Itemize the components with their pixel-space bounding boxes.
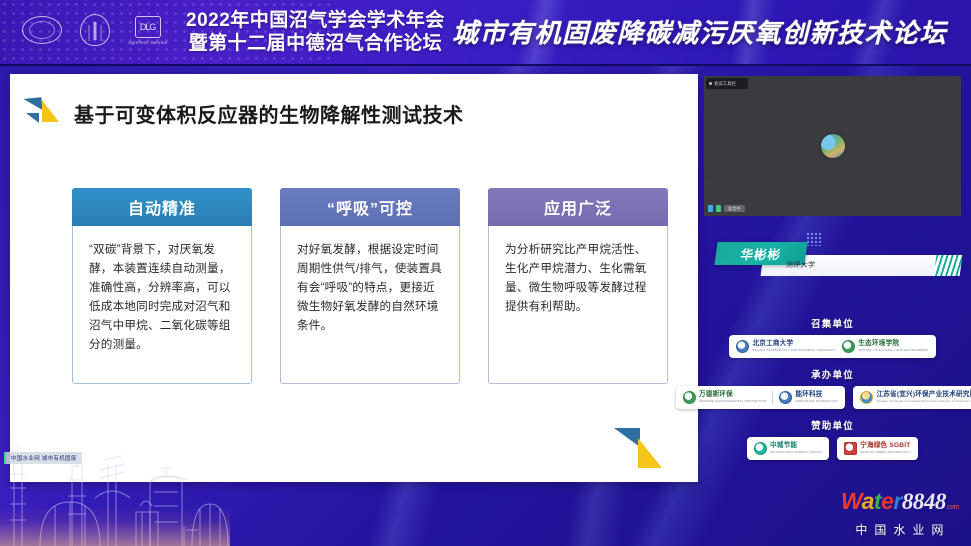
site-watermark: Water8848.com 中国水业网 (841, 489, 959, 538)
sponsor-text: 宁海绿色 SGBIT NINGHAI GREEN TECHNOLOGY (860, 443, 911, 454)
dlg-initials: DLG (135, 16, 161, 38)
video-status-label: 发言中 (724, 205, 745, 212)
sponsor-seal-icon (754, 442, 767, 455)
sponsor-name-cn: 中城节能 (770, 443, 822, 450)
menu-dot-icon (709, 82, 712, 85)
sponsor-name-cn: 生态环境学院 (858, 341, 928, 348)
blue-triangle-icon (614, 428, 640, 447)
feature-card-body: 对好氧发酵，根据设定时间周期性供气/排气，使装置具有会“呼吸”的特点，更接近微生… (280, 226, 460, 384)
yellow-triangle-icon (42, 100, 59, 122)
watermark-tld: .com (946, 504, 959, 511)
sponsor-name-en: SCHOOL OF ECOLOGY AND ENVIRONMENT (858, 349, 928, 352)
agrotech-service-logo-icon: DLG AgroTech Service (128, 16, 167, 45)
sponsor-text: 北京工商大学 BEIJING TECHNOLOGY AND BUSINESS U… (752, 341, 836, 352)
sponsor-name-cn: 宁海绿色 SGBIT (860, 443, 911, 450)
china-biogas-society-emblem-icon (22, 16, 62, 44)
microphone-icon[interactable] (708, 205, 713, 212)
sponsor-text: 江苏省(宜兴)环保产业技术研究院 Jiangsu Yixing Environm… (876, 392, 971, 403)
sponsor-name-en: ZHONGCHENG ENERGY SAVING (770, 451, 822, 454)
sponsor-seal-icon (842, 340, 855, 353)
sponsor-name-en: NENGHUAN TECHNOLOGY (795, 400, 838, 403)
slide-corner-triangle-decoration (614, 426, 672, 470)
sponsor-logo-card: 北京工商大学 BEIJING TECHNOLOGY AND BUSINESS U… (729, 335, 935, 358)
feature-card-body: “双碳”背景下，对厌氧发酵，本装置连续自动测量，准确性高，分辨率高，可以低成本地… (72, 226, 252, 384)
yellow-triangle-icon (638, 438, 662, 468)
sponsor-logo-item: 能环科技 NENGHUAN TECHNOLOGY (779, 391, 838, 404)
sponsor-logo-item: 万德斯环保 WANDESI ENVIRONMENTAL PROTECTION (683, 391, 766, 404)
banner-subtitle-line1: 2022年中国沼气学会学术年会 (186, 9, 445, 32)
event-banner: DLG AgroTech Service 2022年中国沼气学会学术年会 暨第十… (0, 0, 971, 66)
video-bottom-controls[interactable]: 发言中 (708, 205, 745, 212)
video-corner-mark: · (708, 180, 710, 186)
university-shield-emblem-icon (80, 14, 110, 46)
sponsor-text: 万德斯环保 WANDESI ENVIRONMENTAL PROTECTION (699, 392, 766, 403)
camera-icon[interactable] (716, 205, 721, 212)
banner-subtitle-line2: 暨第十二届中德沼气合作论坛 (186, 32, 445, 55)
watermark-letter-r: r (893, 488, 901, 514)
banner-subtitle: 2022年中国沼气学会学术年会 暨第十二届中德沼气合作论坛 (186, 9, 445, 55)
agrotech-caption: AgroTech Service (128, 40, 167, 45)
feature-card: 应用广泛 为分析研究比产甲烷活性、生化产甲烷潜力、生化需氧量、微生物呼吸等发酵过… (488, 188, 668, 384)
watermark-letter-t: t (874, 488, 881, 514)
sponsor-logo-row: 中城节能 ZHONGCHENG ENERGY SAVING 宁海绿色 SGBIT… (704, 437, 961, 460)
sponsor-divider (772, 391, 773, 404)
sponsor-name-cn: 万德斯环保 (699, 392, 766, 399)
feature-card-heading: 自动精准 (72, 188, 252, 226)
watermark-cn: 中国水业网 (841, 521, 959, 538)
watermark-letter-a: a (862, 488, 874, 514)
feature-card-list: 自动精准 “双碳”背景下，对厌氧发酵，本装置连续自动测量，准确性高，分辨率高，可… (72, 188, 668, 384)
speaker-nameplate: 华彬彬 测评大学 (716, 242, 961, 276)
sponsor-seal-icon (736, 340, 749, 353)
speaker-nameplate-stripes (934, 255, 963, 276)
sponsor-name-en: BEIJING TECHNOLOGY AND BUSINESS UNIVERSI… (752, 349, 836, 352)
sponsor-text: 中城节能 ZHONGCHENG ENERGY SAVING (770, 443, 822, 454)
sponsor-group-label: 赞助单位 (704, 418, 961, 432)
sponsor-name-en: Jiangsu Yixing Environmental Protection … (876, 400, 971, 403)
skyline-sunset-glow (0, 506, 230, 546)
sponsor-section: 召集单位 北京工商大学 BEIJING TECHNOLOGY AND BUSIN… (704, 316, 961, 469)
sponsor-name-cn: 北京工商大学 (752, 341, 836, 348)
blue-triangle-icon (23, 97, 42, 112)
feature-card: 自动精准 “双碳”背景下，对厌氧发酵，本装置连续自动测量，准确性高，分辨率高，可… (72, 188, 252, 384)
sponsor-logo-item: 生态环境学院 SCHOOL OF ECOLOGY AND ENVIRONMENT (842, 340, 928, 353)
sponsor-logo-card: 江苏省(宜兴)环保产业技术研究院 Jiangsu Yixing Environm… (853, 386, 971, 409)
title-triangle-decoration (24, 96, 72, 130)
sponsor-group-label: 承办单位 (704, 367, 961, 381)
sponsor-seal-icon (860, 391, 873, 404)
watermark-letter-w: W (841, 488, 862, 514)
participant-avatar (821, 134, 845, 158)
video-feed-panel[interactable]: 会议工具栏 · 发言中 (704, 76, 961, 216)
feature-card: “呼吸”可控 对好氧发酵，根据设定时间周期性供气/排气，使装置具有会“呼吸”的特… (280, 188, 460, 384)
sponsor-name-cn: 能环科技 (795, 392, 838, 399)
page-title: 基于可变体积反应器的生物降解性测试技术 (74, 99, 464, 128)
sponsor-logo-card: 宁海绿色 SGBIT NINGHAI GREEN TECHNOLOGY (837, 437, 918, 460)
slide-title-row: 基于可变体积反应器的生物降解性测试技术 (24, 96, 464, 130)
sponsor-logo-row: 北京工商大学 BEIJING TECHNOLOGY AND BUSINESS U… (704, 335, 961, 358)
watermark-brand: Water8848.com (841, 489, 959, 520)
sponsor-logo-item: 中城节能 ZHONGCHENG ENERGY SAVING (754, 442, 822, 455)
sponsor-logo-row: 万德斯环保 WANDESI ENVIRONMENTAL PROTECTION 能… (704, 386, 961, 409)
sponsor-logo-item: 宁海绿色 SGBIT NINGHAI GREEN TECHNOLOGY (844, 442, 911, 455)
sponsor-name-en: WANDESI ENVIRONMENTAL PROTECTION (699, 400, 766, 403)
feature-card-heading: “呼吸”可控 (280, 188, 460, 226)
watermark-number: 8848 (902, 489, 946, 514)
banner-main-title: 城市有机固废降碳减污厌氧创新技术论坛 (452, 17, 947, 49)
sponsor-logo-item: 江苏省(宜兴)环保产业技术研究院 Jiangsu Yixing Environm… (860, 391, 971, 404)
feature-card-body: 为分析研究比产甲烷活性、生化产甲烷潜力、生化需氧量、微生物呼吸等发酵过程提供有利… (488, 226, 668, 384)
video-toolbar-label: 会议工具栏 (714, 81, 736, 87)
sponsor-seal-icon (844, 442, 857, 455)
watermark-letter-e: e (881, 488, 893, 514)
sponsor-seal-icon (683, 391, 696, 404)
blue-triangle-small-icon (26, 113, 39, 123)
sponsor-logo-item: 北京工商大学 BEIJING TECHNOLOGY AND BUSINESS U… (736, 340, 836, 353)
sponsor-name-en: NINGHAI GREEN TECHNOLOGY (860, 451, 911, 454)
speaker-affiliation: 测评大学 (785, 260, 816, 270)
presentation-slide[interactable]: 基于可变体积反应器的生物降解性测试技术 自动精准 “双碳”背景下，对厌氧发酵，本… (10, 74, 698, 482)
sponsor-logo-card: 中城节能 ZHONGCHENG ENERGY SAVING (747, 437, 829, 460)
sponsor-group-label: 召集单位 (704, 316, 961, 330)
feature-card-heading: 应用广泛 (488, 188, 668, 226)
sponsor-name-cn: 江苏省(宜兴)环保产业技术研究院 (876, 392, 971, 399)
sponsor-logo-card: 万德斯环保 WANDESI ENVIRONMENTAL PROTECTION 能… (676, 386, 845, 409)
sponsor-text: 生态环境学院 SCHOOL OF ECOLOGY AND ENVIRONMENT (858, 341, 928, 352)
sponsor-text: 能环科技 NENGHUAN TECHNOLOGY (795, 392, 838, 403)
video-toolbar[interactable]: 会议工具栏 (706, 78, 748, 89)
banner-logo-group: DLG AgroTech Service (22, 14, 167, 46)
skyline-caption-tag: 中国水业网 城市有机固废 (4, 452, 82, 464)
sponsor-seal-icon (779, 391, 792, 404)
